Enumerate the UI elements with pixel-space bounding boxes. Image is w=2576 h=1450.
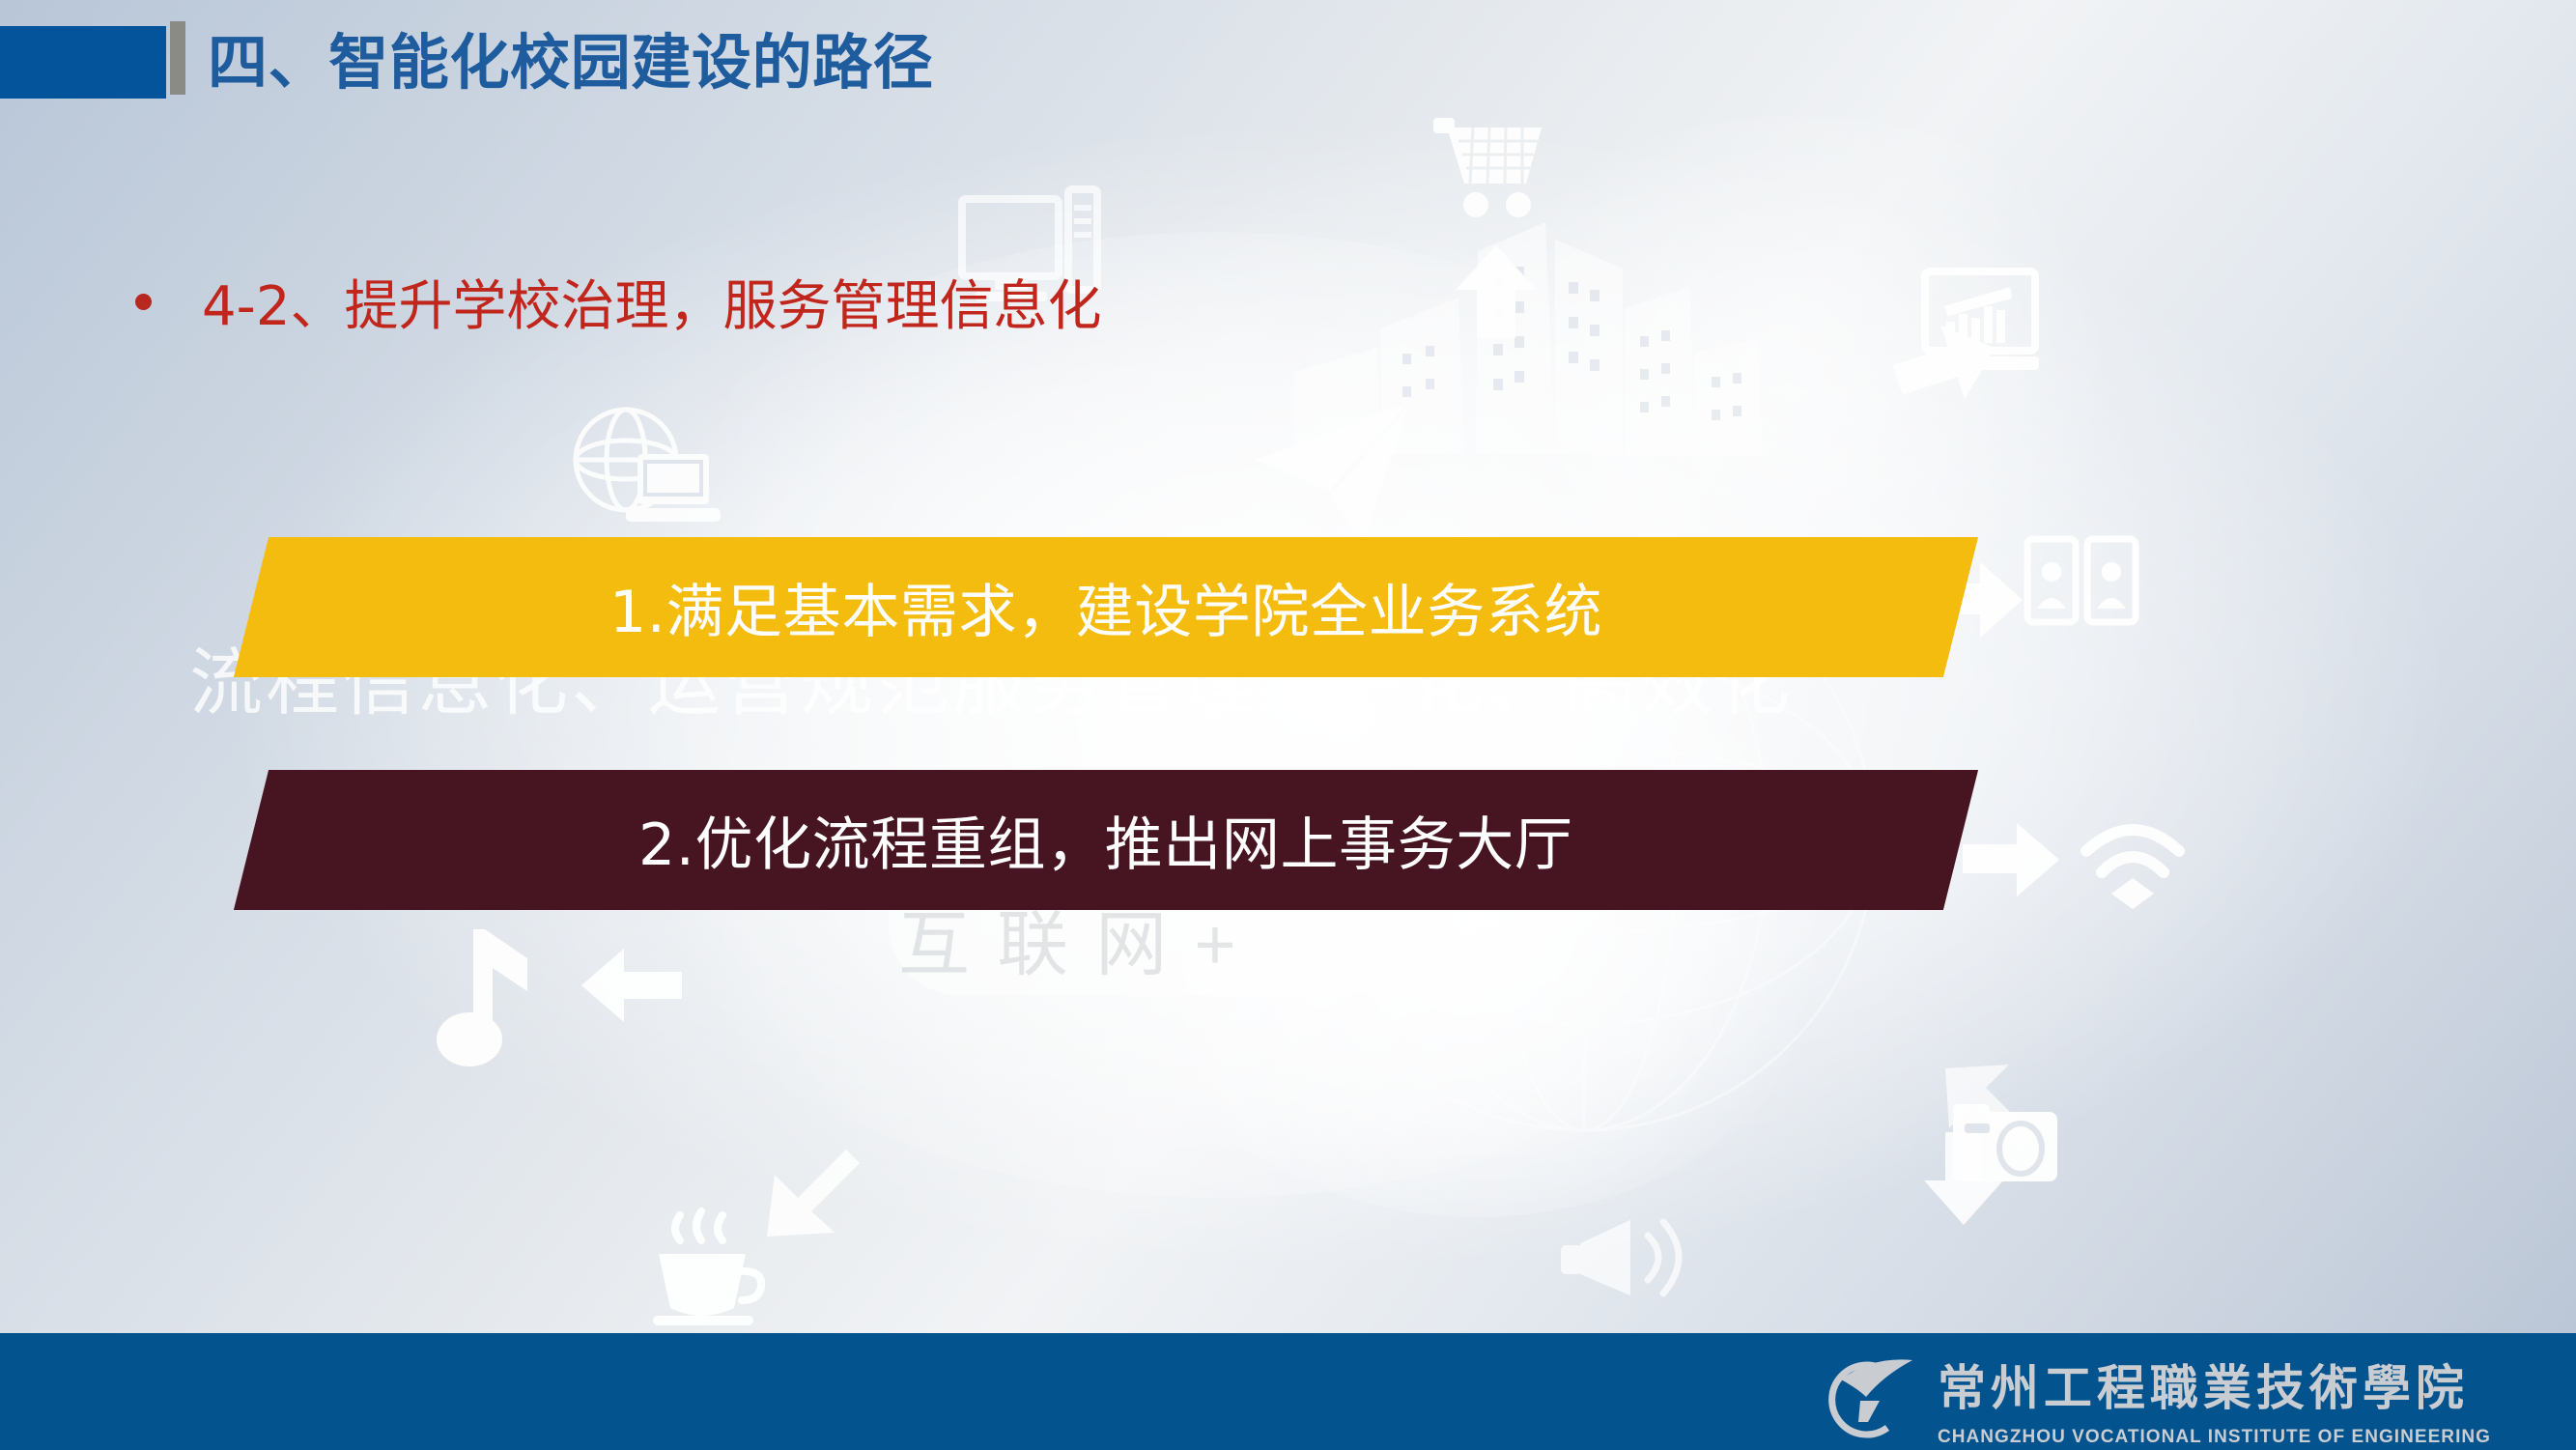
background-bloom-lower: [1111, 618, 1845, 1217]
banner-2-label: 2.优化流程重组，推出网上事务大厅: [638, 798, 1572, 882]
wifi-icon: [2077, 816, 2189, 909]
coffee-cup-icon: [637, 1208, 769, 1329]
city-buildings-icon: [1236, 193, 1854, 580]
logo-name-cn: 常州工程職業技術學院: [1938, 1350, 2469, 1419]
title-accent-block: [0, 26, 166, 99]
bullet-marker-icon: [135, 294, 152, 310]
cart-grid-lines: [1430, 114, 1547, 218]
arrow-down-icon: [1922, 1130, 2005, 1227]
slide-footer: 常州工程職業技術學院 CHANGZHOU VOCATIONAL INSTITUT…: [0, 1333, 2576, 1450]
bullet-text: 4-2、提升学校治理，服务管理信息化: [202, 263, 1101, 341]
monitor-chart-icon: [1917, 266, 2043, 374]
arrow-left-icon: [580, 945, 684, 1026]
page-title: 四、智能化校园建设的路径: [208, 14, 933, 100]
megaphone-icon: [1555, 1203, 1690, 1317]
music-note-icon: [435, 925, 535, 1070]
logo-name-en: CHANGZHOU VOCATIONAL INSTITUTE OF ENGINE…: [1938, 1427, 2491, 1448]
logo-text-group: 常州工程職業技術學院 CHANGZHOU VOCATIONAL INSTITUT…: [1938, 1350, 2491, 1448]
banner-1-label: 1.满足基本需求，建设学院全业务系统: [609, 565, 1602, 649]
arrow-up-icon: [1454, 243, 1539, 340]
arrow-diagonal-down-left-icon: [763, 1140, 865, 1242]
presentation-slide: 流程信息化、运营规范服务管理统一化、高效化 互联网+ 四、智能化校园建设的路径 …: [0, 0, 2576, 1450]
arrow-right-icon: [1893, 324, 1999, 407]
camera-icon: [1951, 1096, 2059, 1183]
title-divider-bar: [170, 21, 185, 95]
globe-laptop-icon: [570, 396, 724, 539]
swoosh-c-logo-icon: [1812, 1347, 1916, 1450]
contact-cards-icon: [2024, 533, 2141, 630]
banner-item-2: 2.优化流程重组，推出网上事务大厅: [234, 770, 1978, 910]
slide-header: 四、智能化校园建设的路径: [0, 0, 2576, 116]
institution-logo: 常州工程職業技術學院 CHANGZHOU VOCATIONAL INSTITUT…: [1812, 1347, 2491, 1450]
background-bloom-center: [541, 232, 1893, 1198]
arrow-diagonal-up-left-icon: [1941, 1063, 2044, 1165]
background-artwork: 流程信息化、运营规范服务管理统一化、高效化 互联网+: [0, 0, 2576, 1450]
bullet-row: 4-2、提升学校治理，服务管理信息化: [135, 263, 1101, 341]
arrow-right-lower-icon: [1961, 821, 2061, 898]
banner-item-1: 1.满足基本需求，建设学院全业务系统: [234, 537, 1978, 677]
shopping-cart-icon: [1430, 114, 1547, 218]
